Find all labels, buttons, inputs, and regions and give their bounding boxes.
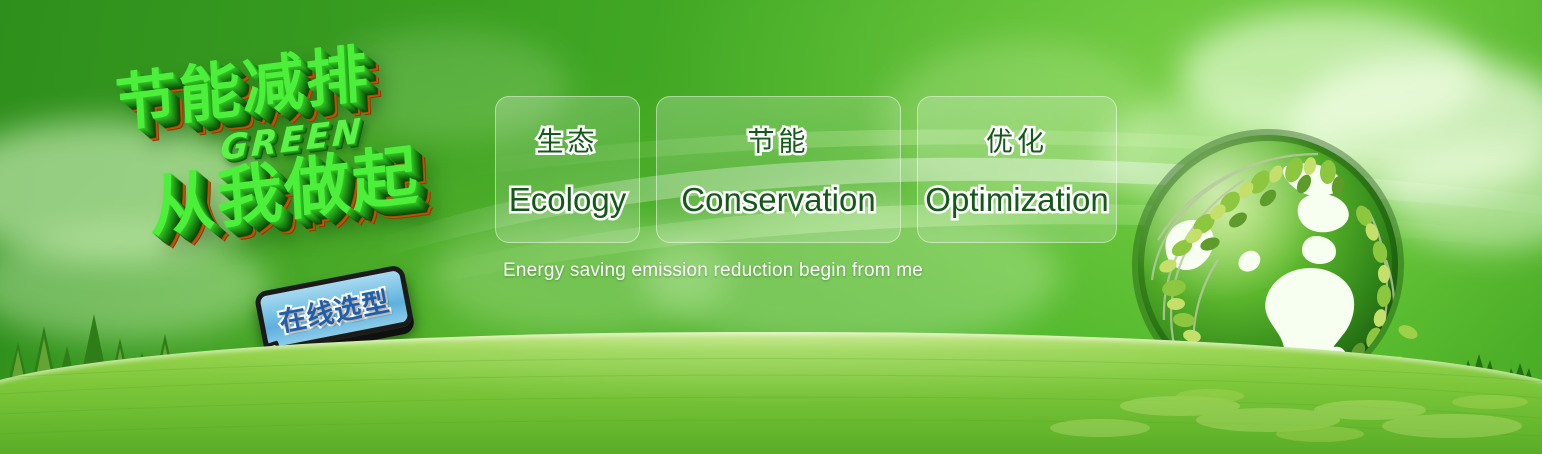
feature-card-cn-label: 节能 [748, 120, 810, 159]
feature-card-en-label: Ecology [509, 181, 626, 219]
headline-english: GREEN [219, 111, 364, 169]
green-energy-banner: 节能减排 GREEN 从我做起 在线选型 生态 Ecology 节能 Conse… [0, 0, 1542, 454]
feature-card-optimization[interactable]: 优化 Optimization [917, 96, 1117, 243]
feature-card-en-label: Conservation [681, 181, 875, 219]
headline-line2: 从我做起 [146, 121, 421, 250]
headline-line1: 节能减排 [113, 22, 372, 143]
feature-card-cn-label: 优化 [986, 120, 1048, 159]
feature-card-en-label: Optimization [925, 181, 1108, 219]
tagline: Energy saving emission reduction begin f… [503, 260, 923, 282]
cloud-icon [0, 120, 270, 260]
headline-art: 节能减排 GREEN 从我做起 [100, 28, 500, 278]
feature-card-list: 生态 Ecology 节能 Conservation 优化 Optimizati… [495, 96, 1117, 243]
feature-card-cn-label: 生态 [537, 120, 599, 159]
grass-texture [0, 324, 1542, 454]
feature-card-conservation[interactable]: 节能 Conservation [656, 96, 901, 243]
feature-card-ecology[interactable]: 生态 Ecology [495, 96, 640, 243]
